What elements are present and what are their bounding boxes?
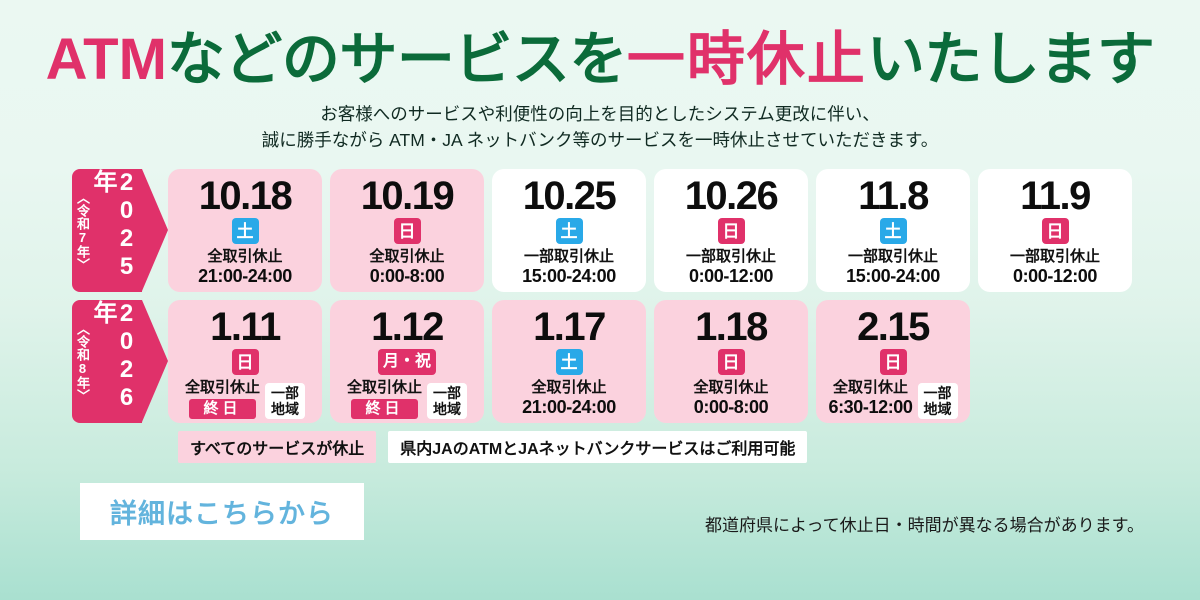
card-body: 一部取引休止0:00-12:00 <box>654 248 808 288</box>
card-date: 1.12 <box>371 306 443 348</box>
card-body: 全取引休止終日一部地域 <box>330 379 484 419</box>
all-day-pill: 終日 <box>351 399 417 419</box>
card-scope: 全取引休止 <box>207 248 282 266</box>
card-body: 全取引休止21:00-24:00 <box>492 379 646 419</box>
weekday-badge: 日 <box>394 218 421 244</box>
partial-region-badge: 一部地域 <box>265 383 305 419</box>
schedule-rows: 2025年〈令和7年〉10.18土全取引休止21:00-24:0010.19日全… <box>0 169 1200 423</box>
weekday-badge: 土 <box>556 349 583 375</box>
headline-atm: ATM <box>46 27 167 92</box>
weekday-badge: 日 <box>1042 218 1069 244</box>
card-time: 21:00-24:00 <box>198 266 292 288</box>
card-body: 全取引休止0:00-8:00 <box>330 248 484 288</box>
card-time: 0:00-12:00 <box>1013 266 1097 288</box>
card-body: 全取引休止21:00-24:00 <box>168 248 322 288</box>
legend-item-partly-usable: 県内JAのATMとJAネットバンクサービスはご利用可能 <box>388 431 807 463</box>
card-date: 1.17 <box>533 306 605 348</box>
date-card: 1.18日全取引休止0:00-8:00 <box>654 300 808 423</box>
subtitle-line-1: お客様へのサービスや利便性の向上を目的としたシステム更改に伴い、 <box>0 101 1200 127</box>
card-scope: 一部取引休止 <box>524 248 614 266</box>
date-row: 2026年〈令和8年〉1.11日全取引休止終日一部地域1.12月・祝全取引休止終… <box>0 300 1200 423</box>
weekday-badge: 日 <box>232 349 259 375</box>
card-scope: 全取引休止 <box>347 379 422 397</box>
card-scope: 一部取引休止 <box>1010 248 1100 266</box>
card-date: 1.18 <box>695 306 767 348</box>
card-time: 0:00-8:00 <box>694 397 768 419</box>
card-date: 10.19 <box>361 175 454 217</box>
date-card: 2.15日全取引休止6:30-12:00一部地域 <box>816 300 970 423</box>
subtitle-line-2: 誠に勝手ながら ATM・JA ネットバンク等のサービスを一時休止させていただきま… <box>0 127 1200 153</box>
card-date: 11.9 <box>1020 175 1090 217</box>
card-scope: 全取引休止 <box>531 379 606 397</box>
legend: すべてのサービスが休止 県内JAのATMとJAネットバンクサービスはご利用可能 <box>0 431 1200 463</box>
poster-root: ATMなどのサービスを一時休止いたします お客様へのサービスや利便性の向上を目的… <box>0 0 1200 600</box>
weekday-badge: 日 <box>718 349 745 375</box>
footnote: 都道府県によって休止日・時間が異なる場合があります。 <box>705 511 1144 540</box>
weekday-badge: 日 <box>718 218 745 244</box>
date-card: 10.19日全取引休止0:00-8:00 <box>330 169 484 292</box>
card-scope: 全取引休止 <box>369 248 444 266</box>
weekday-badge: 月・祝 <box>378 349 436 375</box>
card-lines: 全取引休止終日 <box>185 379 260 419</box>
card-lines: 一部取引休止15:00-24:00 <box>846 248 940 288</box>
year-tag: 2026年〈令和8年〉 <box>72 300 142 423</box>
card-lines: 一部取引休止0:00-12:00 <box>1010 248 1100 288</box>
details-link-button[interactable]: 詳細はこちらから <box>80 483 364 540</box>
legend-item-all-suspended: すべてのサービスが休止 <box>178 431 376 463</box>
card-date: 2.15 <box>857 306 929 348</box>
card-time: 21:00-24:00 <box>522 397 616 419</box>
weekday-badge: 日 <box>880 349 907 375</box>
date-card: 11.8土一部取引休止15:00-24:00 <box>816 169 970 292</box>
headline-tail: いたします <box>867 27 1155 92</box>
card-body: 一部取引休止15:00-24:00 <box>816 248 970 288</box>
card-scope: 一部取引休止 <box>848 248 938 266</box>
date-card: 10.26日一部取引休止0:00-12:00 <box>654 169 808 292</box>
card-time: 6:30-12:00 <box>828 397 912 419</box>
card-time: 15:00-24:00 <box>522 266 616 288</box>
card-date: 10.25 <box>523 175 616 217</box>
card-body: 全取引休止0:00-8:00 <box>654 379 808 419</box>
card-scope: 全取引休止 <box>185 379 260 397</box>
card-body: 一部取引休止15:00-24:00 <box>492 248 646 288</box>
card-lines: 全取引休止0:00-8:00 <box>369 248 444 288</box>
date-card: 1.17土全取引休止21:00-24:00 <box>492 300 646 423</box>
card-time: 0:00-8:00 <box>370 266 444 288</box>
card-scope: 全取引休止 <box>693 379 768 397</box>
card-date: 10.26 <box>685 175 778 217</box>
card-time: 15:00-24:00 <box>846 266 940 288</box>
card-lines: 一部取引休止15:00-24:00 <box>522 248 616 288</box>
card-lines: 全取引休止終日 <box>347 379 422 419</box>
card-date: 11.8 <box>858 175 928 217</box>
card-scope: 全取引休止 <box>833 379 908 397</box>
era-label: 〈令和7年〉 <box>76 191 89 271</box>
card-lines: 一部取引休止0:00-12:00 <box>686 248 776 288</box>
year-label: 2026年 <box>90 300 138 423</box>
date-card: 1.11日全取引休止終日一部地域 <box>168 300 322 423</box>
subtitle: お客様へのサービスや利便性の向上を目的としたシステム更改に伴い、 誠に勝手ながら… <box>0 101 1200 154</box>
weekday-badge: 土 <box>232 218 259 244</box>
date-card: 11.9日一部取引休止0:00-12:00 <box>978 169 1132 292</box>
card-date: 1.11 <box>210 306 280 348</box>
partial-region-badge: 一部地域 <box>427 383 467 419</box>
card-lines: 全取引休止21:00-24:00 <box>522 379 616 419</box>
era-label: 〈令和8年〉 <box>76 322 89 402</box>
partial-region-badge: 一部地域 <box>918 383 958 419</box>
card-body: 全取引休止6:30-12:00一部地域 <box>816 379 970 419</box>
all-day-pill: 終日 <box>189 399 255 419</box>
year-tag: 2025年〈令和7年〉 <box>72 169 142 292</box>
page-title: ATMなどのサービスを一時休止いたします <box>0 0 1200 91</box>
card-body: 一部取引休止0:00-12:00 <box>978 248 1132 288</box>
card-scope: 一部取引休止 <box>686 248 776 266</box>
card-lines: 全取引休止6:30-12:00 <box>828 379 912 419</box>
bottom-bar: 詳細はこちらから 都道府県によって休止日・時間が異なる場合があります。 <box>0 483 1200 540</box>
weekday-badge: 土 <box>880 218 907 244</box>
headline-suspend: 一時休止 <box>627 27 867 92</box>
card-lines: 全取引休止21:00-24:00 <box>198 248 292 288</box>
date-card: 10.25土一部取引休止15:00-24:00 <box>492 169 646 292</box>
date-row: 2025年〈令和7年〉10.18土全取引休止21:00-24:0010.19日全… <box>0 169 1200 292</box>
card-time: 0:00-12:00 <box>689 266 773 288</box>
card-lines: 全取引休止0:00-8:00 <box>693 379 768 419</box>
date-card: 10.18土全取引休止21:00-24:00 <box>168 169 322 292</box>
date-card: 1.12月・祝全取引休止終日一部地域 <box>330 300 484 423</box>
year-label: 2025年 <box>90 169 138 292</box>
card-body: 全取引休止終日一部地域 <box>168 379 322 419</box>
weekday-badge: 土 <box>556 218 583 244</box>
headline-services: などのサービスを <box>167 27 627 92</box>
card-date: 10.18 <box>199 175 292 217</box>
